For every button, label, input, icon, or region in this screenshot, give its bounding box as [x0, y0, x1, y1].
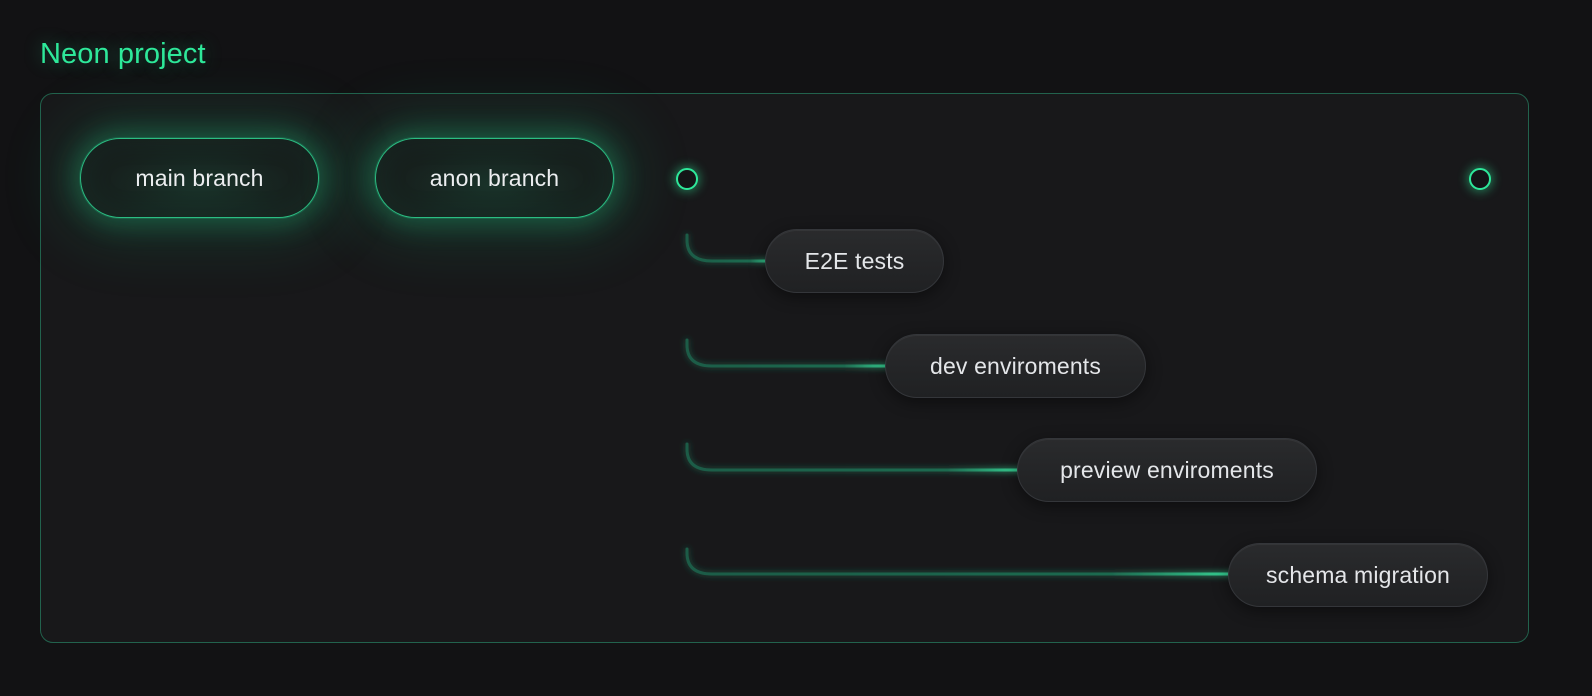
- node-main-branch-label: main branch: [135, 165, 263, 192]
- node-preview-enviroments-label: preview enviroments: [1060, 457, 1274, 484]
- timeline-end-ring-icon[interactable]: [1469, 168, 1491, 190]
- node-anon-branch-label: anon branch: [430, 165, 560, 192]
- node-dev-enviroments[interactable]: dev enviroments: [885, 334, 1146, 398]
- node-dev-enviroments-label: dev enviroments: [930, 353, 1101, 380]
- diagram-stage: Neon project: [0, 0, 1592, 696]
- node-preview-enviroments[interactable]: preview enviroments: [1017, 438, 1317, 502]
- node-main-branch[interactable]: main branch: [80, 138, 319, 218]
- node-e2e-tests-label: E2E tests: [805, 248, 905, 275]
- node-schema-migration[interactable]: schema migration: [1228, 543, 1488, 607]
- node-schema-migration-label: schema migration: [1266, 562, 1450, 589]
- branch-point-ring-icon[interactable]: [676, 168, 698, 190]
- node-e2e-tests[interactable]: E2E tests: [765, 229, 944, 293]
- node-anon-branch[interactable]: anon branch: [375, 138, 614, 218]
- page-title: Neon project: [40, 38, 206, 71]
